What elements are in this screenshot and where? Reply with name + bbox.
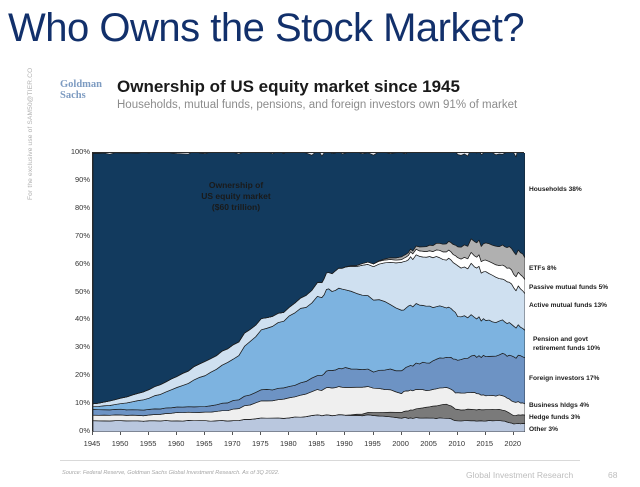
- y-axis-tick-label: 50%: [58, 288, 90, 296]
- y-axis-tick-label: 40%: [58, 315, 90, 323]
- label-etfs: ETFs 8%: [529, 265, 556, 274]
- y-axis: 0%10%20%30%40%50%60%70%80%90%100%: [58, 146, 90, 438]
- y-axis-tick-label: 0%: [58, 427, 90, 435]
- annotation-line-3: ($60 trillion): [156, 202, 316, 213]
- x-axis: 1945195019551960196519701975198019851990…: [92, 431, 524, 451]
- goldman-sachs-logo: Goldman Sachs: [60, 80, 110, 101]
- footer-research-label: Global Investment Research: [466, 470, 573, 480]
- label-hedge-funds: Hedge funds 3%: [529, 414, 580, 423]
- logo-line-1: Goldman: [60, 80, 110, 91]
- y-axis-tick-label: 90%: [58, 176, 90, 184]
- label-pension-govt: Pension and govt retirement funds 10%: [533, 336, 600, 353]
- label-business-hldgs: Business hldgs 4%: [529, 402, 589, 411]
- y-axis-tick-label: 20%: [58, 371, 90, 379]
- label-other: Other 3%: [529, 426, 558, 435]
- label-pension-govt-line-1: Pension and govt: [533, 336, 600, 345]
- y-axis-tick-label: 60%: [58, 260, 90, 268]
- page-title: Who Owns the Stock Market?: [8, 6, 524, 50]
- watermark-text: For the exclusive use of SAM50@TIER.CO: [27, 30, 34, 200]
- slide-root: Who Owns the Stock Market? Goldman Sachs…: [0, 0, 640, 487]
- y-axis-tick-label: 30%: [58, 343, 90, 351]
- annotation-line-1: Ownership of: [156, 180, 316, 191]
- x-axis-tick-label: 2020: [493, 439, 533, 448]
- label-foreign-investors: Foreign investors 17%: [529, 375, 599, 384]
- footer-page-number: 68: [608, 470, 617, 480]
- label-pension-govt-line-2: retirement funds 10%: [533, 345, 600, 354]
- y-axis-tick-label: 80%: [58, 204, 90, 212]
- chart-title: Ownership of US equity market since 1945: [117, 77, 460, 97]
- y-axis-tick-label: 70%: [58, 232, 90, 240]
- chart-subtitle: Households, mutual funds, pensions, and …: [117, 99, 517, 111]
- footer-source: Source: Federal Reserve, Goldman Sachs G…: [62, 470, 279, 476]
- annotation-line-2: US equity market: [156, 191, 316, 202]
- plot-annotation: Ownership of US equity market ($60 trill…: [156, 180, 316, 213]
- y-axis-tick-label: 10%: [58, 399, 90, 407]
- y-axis-tick-label: 100%: [58, 148, 90, 156]
- footer-divider: [60, 460, 580, 461]
- label-active-mutual-funds: Active mutual funds 13%: [529, 302, 607, 311]
- label-passive-mutual-funds: Passive mutual funds 5%: [529, 284, 608, 293]
- logo-line-2: Sachs: [60, 91, 110, 102]
- label-households: Households 38%: [529, 186, 582, 195]
